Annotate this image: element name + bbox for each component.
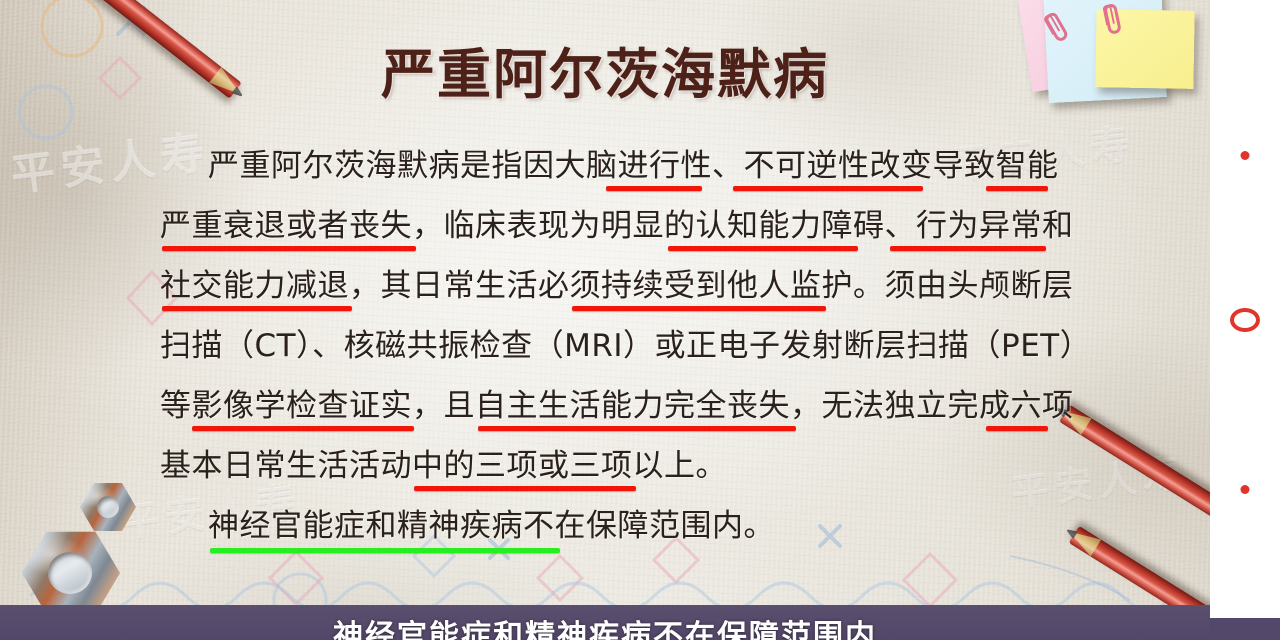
rail-marker-dot[interactable] [1241, 485, 1250, 494]
hex-nut-small [80, 482, 136, 532]
slide-canvas: 平安人寿 平安人寿 平安人寿 平安人寿 [0, 0, 1210, 640]
right-side-panel [1210, 0, 1280, 640]
body-line-text: 扫描（CT）、核磁共振检查（MRI）或正电子发射断层扫描（PET） [160, 328, 1091, 364]
subtitle-text: 神经官能症和精神疾病不在保障范围内 [0, 611, 1210, 640]
highlight-underline-red [162, 246, 416, 251]
highlight-underline-red [606, 186, 702, 191]
rail-footer-strip [1210, 618, 1280, 640]
rail-marker-dot[interactable] [1241, 151, 1250, 160]
highlight-underline-red [733, 186, 923, 191]
rail-marker-ring[interactable] [1230, 308, 1260, 332]
highlight-underline-red [572, 306, 826, 311]
body-line-text: 严重阿尔茨海默病是指因大脑进行性、不可逆性改变导致智能 [208, 148, 1059, 184]
highlight-underline-red [192, 426, 414, 431]
subtitle-bar: 神经官能症和精神疾病不在保障范围内 [0, 605, 1210, 640]
highlight-underline-red [986, 426, 1048, 431]
body-line-text: 社交能力减退，其日常生活必须持续受到他人监护。须由头颅断层 [160, 268, 1074, 304]
highlight-underline-red [478, 426, 796, 431]
highlight-underline-green [210, 548, 560, 553]
body-line-text: 严重衰退或者丧失，临床表现为明显的认知能力障碍、行为异常和 [160, 208, 1074, 244]
body-line: 等影像学检查证实，且自主生活能力完全丧失，无法独立完成六项 [160, 382, 1044, 442]
hex-nut-hole [97, 496, 119, 518]
body-line-text: 基本日常生活活动中的三项或三项以上。 [160, 448, 727, 484]
body-line: 严重衰退或者丧失，临床表现为明显的认知能力障碍、行为异常和 [160, 202, 1044, 262]
body-text-block: 严重阿尔茨海默病是指因大脑进行性、不可逆性改变导致智能 严重衰退或者丧失，临床表… [160, 142, 1044, 562]
body-line-text: 神经官能症和精神疾病不在保障范围内。 [208, 508, 775, 544]
highlight-underline-red [986, 186, 1048, 191]
body-line-text: 等影像学检查证实，且自主生活能力完全丧失，无法独立完成六项 [160, 388, 1074, 424]
body-line: 神经官能症和精神疾病不在保障范围内。 [160, 502, 1044, 562]
screenshot-root: 平安人寿 平安人寿 平安人寿 平安人寿 [0, 0, 1280, 640]
page-title: 严重阿尔茨海默病 [0, 30, 1210, 109]
body-line: 严重阿尔茨海默病是指因大脑进行性、不可逆性改变导致智能 [160, 142, 1044, 202]
hex-nut-large [22, 530, 120, 616]
highlight-underline-red [162, 306, 352, 311]
body-line: 基本日常生活活动中的三项或三项以上。 [160, 442, 1044, 502]
hex-nut-hole [48, 552, 92, 594]
highlight-underline-red [890, 246, 1046, 251]
body-line: 社交能力减退，其日常生活必须持续受到他人监护。须由头颅断层 [160, 262, 1044, 322]
body-line: 扫描（CT）、核磁共振检查（MRI）或正电子发射断层扫描（PET） [160, 322, 1044, 382]
highlight-underline-red [414, 486, 636, 491]
highlight-underline-red [668, 246, 858, 251]
